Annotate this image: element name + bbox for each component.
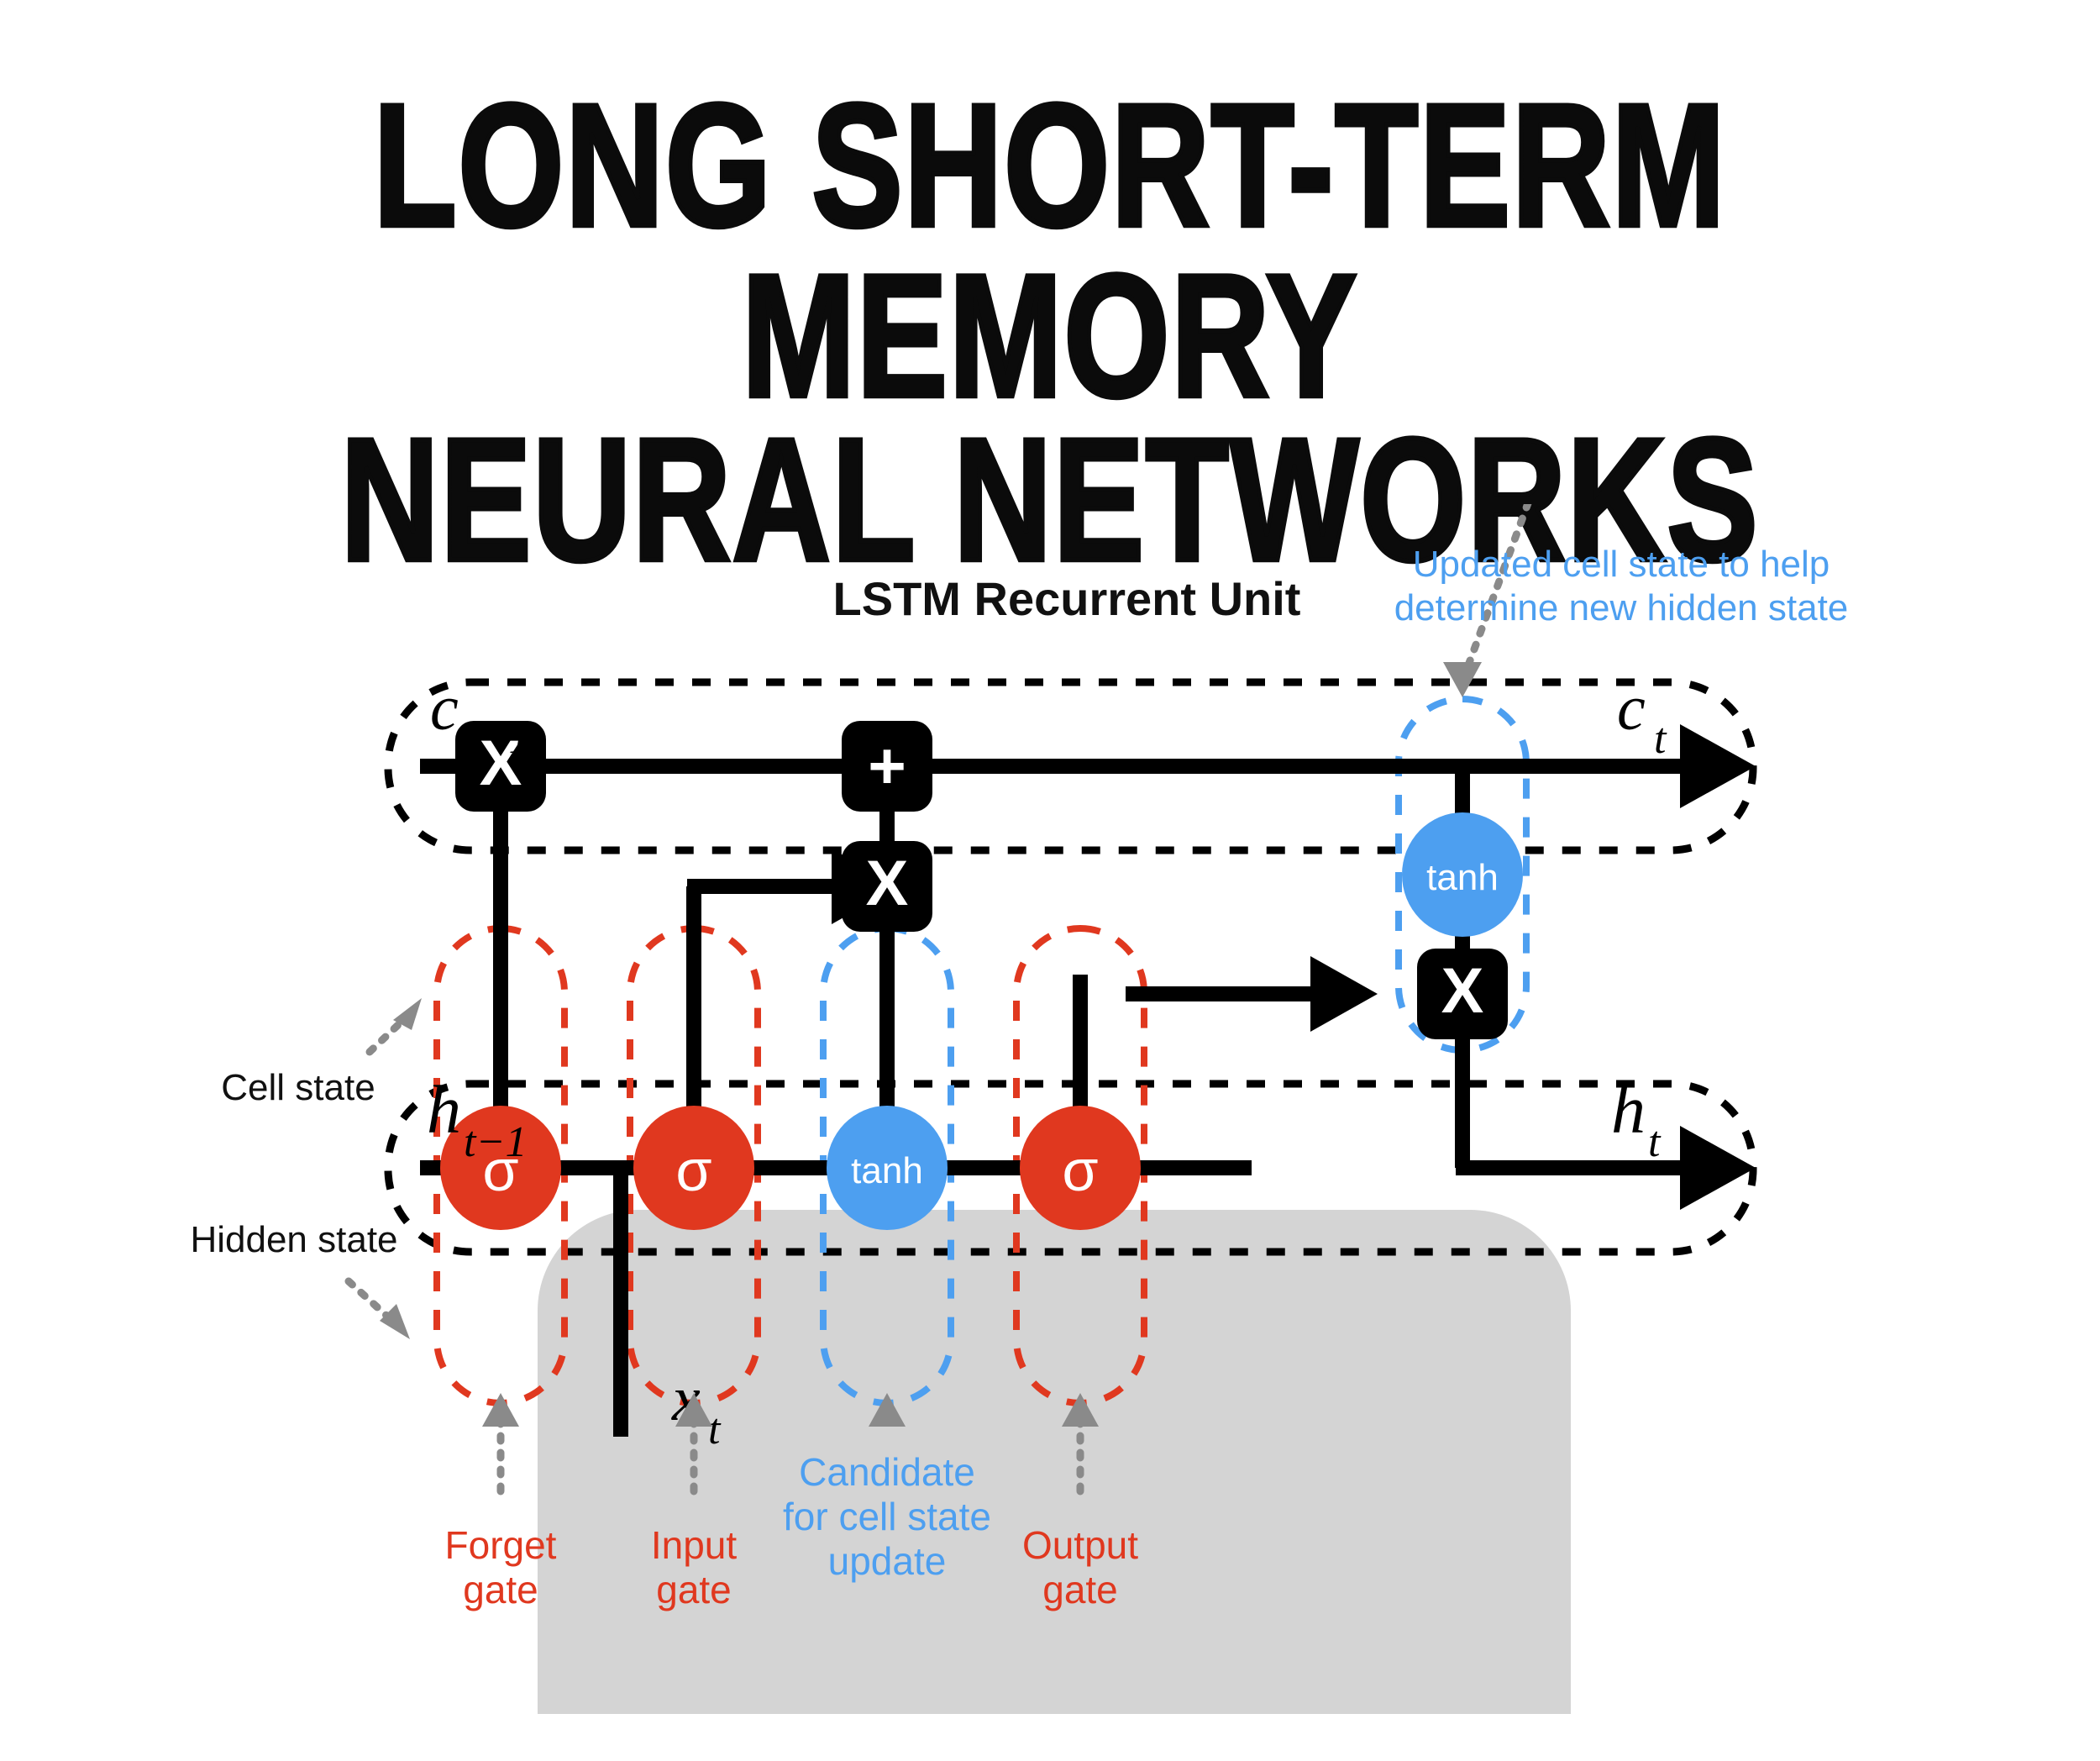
updated-cell-state-note-text: Updated cell state to help determine new… <box>1378 543 1865 630</box>
cell-add-symbol: + <box>868 728 906 802</box>
candidate-note-line1: Candidate <box>799 1450 975 1494</box>
candidate-gate-activation: tanh <box>851 1150 923 1191</box>
output-multiply-symbol: X <box>1441 955 1484 1027</box>
hidden-state-leader-arrowhead <box>380 1304 410 1339</box>
cell-in-subscript: t−1 <box>467 715 531 763</box>
candidate-gate-node: tanh <box>827 1106 948 1230</box>
input-gate-node: σ <box>633 1106 754 1230</box>
cell-in-label: c <box>430 673 459 744</box>
updated-cell-state-note-text-line2: determine new hidden state <box>1378 586 1865 630</box>
cell-tanh-node: tanh <box>1402 812 1523 937</box>
diagram-heading: LSTM Recurrent Unit <box>773 571 1361 626</box>
output-gate-node: σ <box>1020 1106 1141 1230</box>
forget-gate-label-line2: gate <box>463 1568 538 1611</box>
forget-gate-leader-arrowhead <box>482 1393 519 1427</box>
cell-out-label: c <box>1617 673 1646 744</box>
input-multiply-operator: X <box>842 841 932 932</box>
forget-gate-label-line1: Forget <box>445 1523 557 1567</box>
cell-tanh-activation: tanh <box>1426 857 1499 898</box>
title-line-1: Long Short-Term Memory <box>84 81 2016 422</box>
cell-state-label: Cell state <box>221 1067 375 1108</box>
cell-add-operator: + <box>842 721 932 812</box>
hidden-state-label: Hidden state <box>190 1219 397 1260</box>
output-gate-label-line1: Output <box>1022 1523 1138 1567</box>
hidden-in-subscript: t−1 <box>464 1118 528 1166</box>
output-gate-label-line2: gate <box>1042 1568 1118 1611</box>
page-title: Long Short-Term Memory Neural Networks <box>0 81 2100 560</box>
candidate-note-line3: update <box>828 1539 947 1583</box>
lstm-diagram: X + X X σ σ tanh σ tanh c t−1 c t h <box>0 504 2100 1714</box>
hidden-in-label: h <box>427 1071 461 1148</box>
left-state-annotations: Cell state Hidden state <box>190 998 422 1339</box>
hidden-out-label: h <box>1611 1071 1646 1148</box>
cell-out-subscript: t <box>1654 715 1667 763</box>
hidden-out-subscript: t <box>1648 1118 1662 1166</box>
input-multiply-symbol: X <box>866 848 909 919</box>
candidate-note-line2: for cell state <box>783 1495 991 1538</box>
output-x-arrowhead <box>1310 956 1378 1032</box>
output-gate-activation: σ <box>1062 1138 1098 1203</box>
input-gate-label-line2: gate <box>656 1568 732 1611</box>
updated-cell-state-note-text-line1: Updated cell state to help <box>1378 543 1865 586</box>
xt-input-subscript: t <box>708 1406 722 1453</box>
input-gate-label-line1: Input <box>651 1523 738 1567</box>
input-gate-activation: σ <box>675 1138 711 1203</box>
lstm-unit-body <box>538 1210 1571 1714</box>
output-multiply-operator: X <box>1417 949 1508 1039</box>
